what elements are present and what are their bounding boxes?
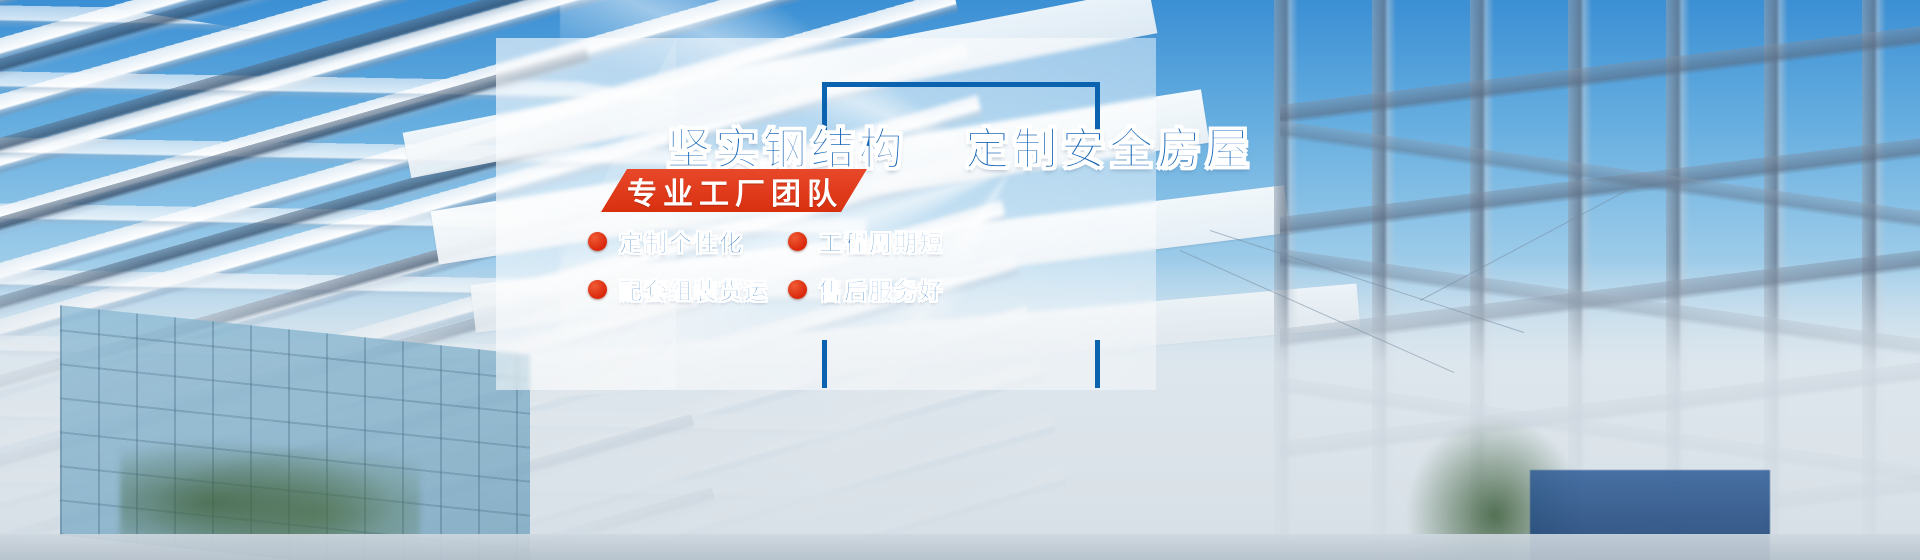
headline: 坚实钢结构 定制安全房屋 bbox=[0, 124, 1920, 176]
red-dot-icon bbox=[588, 280, 607, 299]
headline-part-1: 坚实钢结构 bbox=[667, 125, 907, 174]
promo-banner: 坚实钢结构 定制安全房屋 专业工厂团队 定制个性化 工程周期短 配套组装货运 售… bbox=[0, 0, 1920, 560]
ground-strip bbox=[0, 534, 1920, 560]
bracket-bottom-left-vertical bbox=[822, 340, 827, 388]
bracket-bottom-right-vertical bbox=[1095, 340, 1100, 388]
feature-label: 工程周期短 bbox=[819, 224, 944, 258]
feature-label: 定制个性化 bbox=[619, 224, 744, 258]
feature-label: 配套组装货运 bbox=[619, 272, 769, 306]
red-dot-icon bbox=[588, 232, 607, 251]
feature-item: 定制个性化 bbox=[588, 224, 788, 258]
feature-item: 售后服务好 bbox=[788, 272, 1008, 306]
greenery bbox=[120, 430, 420, 550]
red-dot-icon bbox=[788, 280, 807, 299]
feature-item: 工程周期短 bbox=[788, 224, 1008, 258]
feature-item: 配套组装货运 bbox=[588, 272, 788, 306]
feature-list: 定制个性化 工程周期短 配套组装货运 售后服务好 bbox=[588, 224, 1008, 306]
ribbon-badge: 专业工厂团队 bbox=[601, 169, 867, 212]
headline-part-2: 定制安全房屋 bbox=[965, 125, 1253, 174]
feature-label: 售后服务好 bbox=[819, 272, 944, 306]
bracket-top-horizontal bbox=[822, 82, 1100, 87]
ribbon-label: 专业工厂团队 bbox=[627, 169, 843, 213]
red-dot-icon bbox=[788, 232, 807, 251]
